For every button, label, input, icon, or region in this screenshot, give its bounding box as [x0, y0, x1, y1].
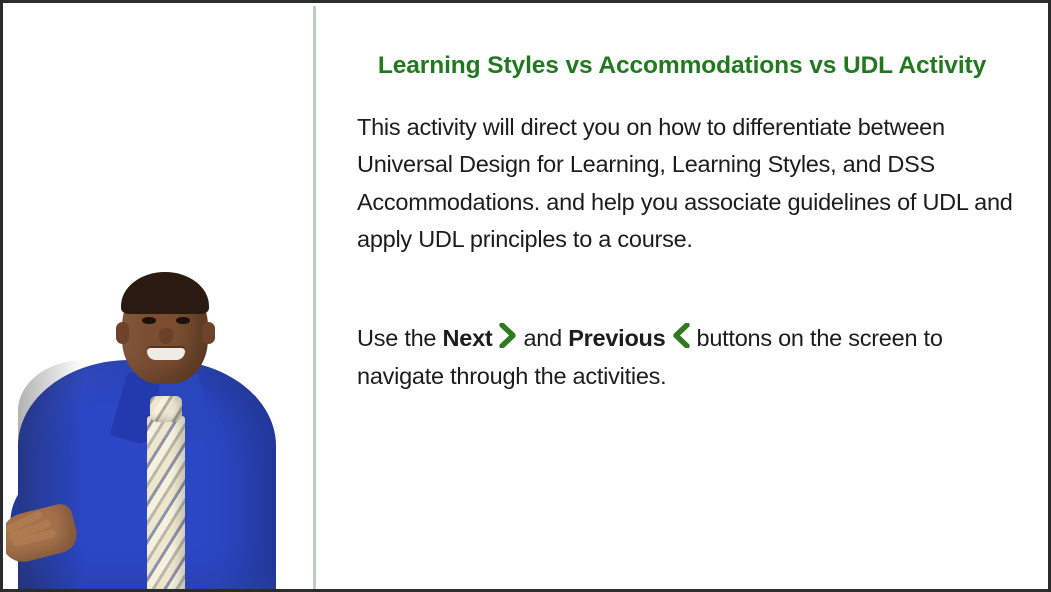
brand-line-1: eLEARNING AND	[51, 87, 281, 105]
next-button-label: Next	[443, 325, 493, 351]
brand-line-2: PROFESSIONAL STUDIES	[51, 105, 281, 123]
brand-line-3: The University of Alabama at Birmingham	[51, 133, 281, 143]
previous-button-label: Previous	[568, 325, 665, 351]
panel-divider	[313, 6, 316, 592]
branding-panel: eLEARNING AND PROFESSIONAL STUDIES The U…	[6, 6, 316, 592]
uab-wordmark-icon	[51, 48, 143, 78]
chevron-left-icon	[672, 323, 691, 348]
nav-prefix: Use the	[357, 325, 436, 351]
activity-description: This activity will direct you on how to …	[319, 83, 1045, 259]
chevron-right-icon	[498, 323, 517, 348]
content-area: Learning Styles vs Accommodations vs UDL…	[319, 6, 1045, 586]
presenter-photo	[6, 212, 316, 592]
page-title: Learning Styles vs Accommodations vs UDL…	[319, 6, 1045, 83]
nav-conjunction: and	[523, 325, 561, 351]
uab-logo: eLEARNING AND PROFESSIONAL STUDIES The U…	[51, 48, 281, 143]
slide-canvas: eLEARNING AND PROFESSIONAL STUDIES The U…	[0, 0, 1051, 592]
navigation-instructions: Use the Nextand Previousbuttons on the s…	[319, 259, 1045, 395]
